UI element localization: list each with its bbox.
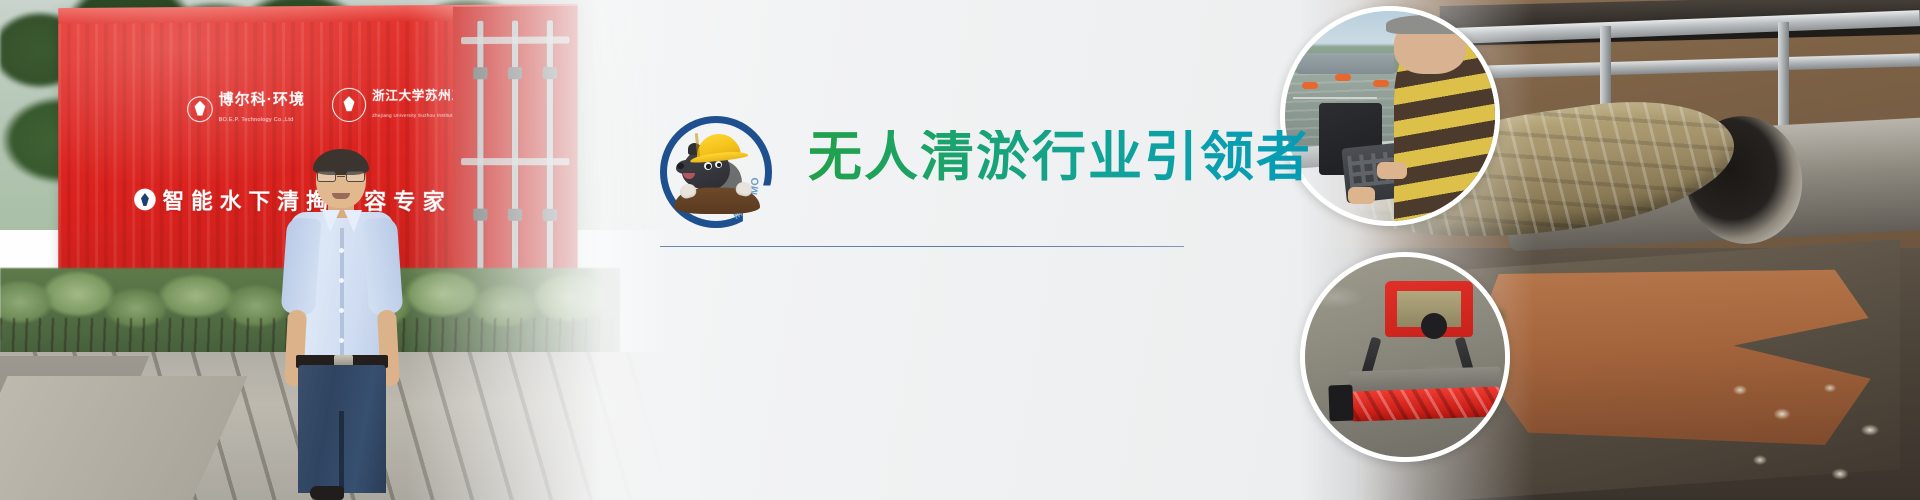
- inset-operator-hand: [1348, 187, 1375, 204]
- inset-operator-photo: [1280, 6, 1500, 226]
- mole-nose: [677, 163, 684, 169]
- inset-operator-hand: [1377, 162, 1406, 179]
- mud-mole-logo: MUD MOLE: [660, 116, 772, 228]
- inset-auger-endcap: [1328, 385, 1353, 422]
- banner-headline: 无人清淤行业引领者: [808, 130, 1312, 184]
- inset-robot-motor: [1421, 313, 1447, 339]
- mole-eye: [704, 162, 712, 170]
- inset-operator-cap: [1386, 15, 1470, 34]
- mole-eye: [715, 161, 722, 168]
- center-brand-block: MUD MOLE 无人清淤行业引领者: [660, 112, 1200, 282]
- inset-float-buoy: [1373, 80, 1389, 87]
- left-photo-container-and-person: 博尔科·环境 BO.E.P. Technology Co.,Ltd 浙江大学苏州…: [0, 0, 700, 500]
- hard-hat-icon: [695, 132, 741, 162]
- left-photo-fade-overlay: [0, 0, 700, 500]
- inset-dredging-robot-photo: [1300, 252, 1510, 462]
- promo-banner: 博尔科·环境 BO.E.P. Technology Co.,Ltd 浙江大学苏州…: [0, 0, 1920, 500]
- headline-divider: [660, 246, 1184, 247]
- inset-tether-line: [1293, 97, 1377, 99]
- mole-mascot-icon: [676, 132, 756, 214]
- gravel-debris: [1720, 370, 1920, 500]
- inset-float-buoy: [1335, 74, 1351, 81]
- inset-auger-cutter: [1345, 386, 1506, 422]
- inset-float-buoy: [1302, 82, 1318, 89]
